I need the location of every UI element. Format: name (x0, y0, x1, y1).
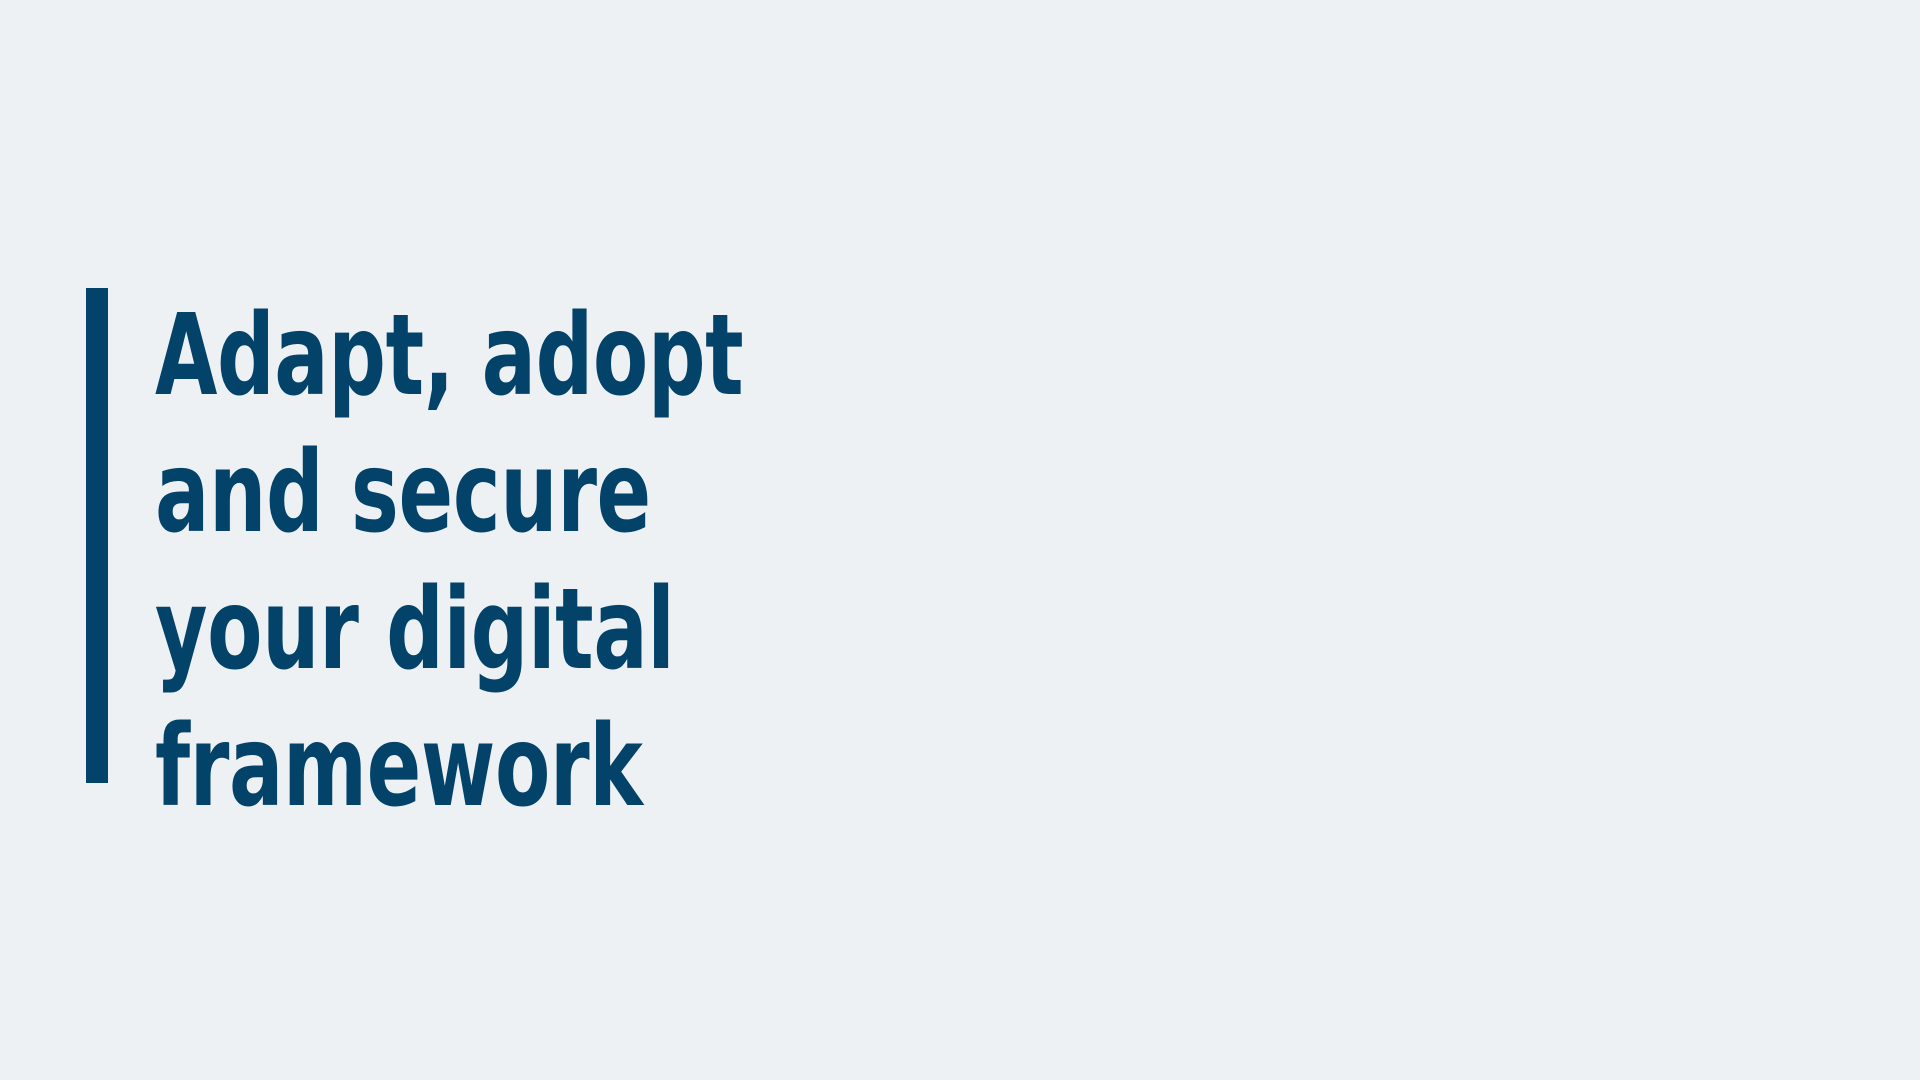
headline-line-4: framework (155, 699, 763, 836)
headline-line-3: your digital (155, 562, 763, 699)
vertical-accent-bar (86, 288, 108, 783)
slide-canvas: Adapt, adopt and secure your digital fra… (0, 0, 1920, 1080)
page-title: Adapt, adopt and secure your digital fra… (155, 288, 915, 836)
headline-line-1: Adapt, adopt (155, 288, 763, 425)
headline-line-2: and secure (155, 425, 763, 562)
